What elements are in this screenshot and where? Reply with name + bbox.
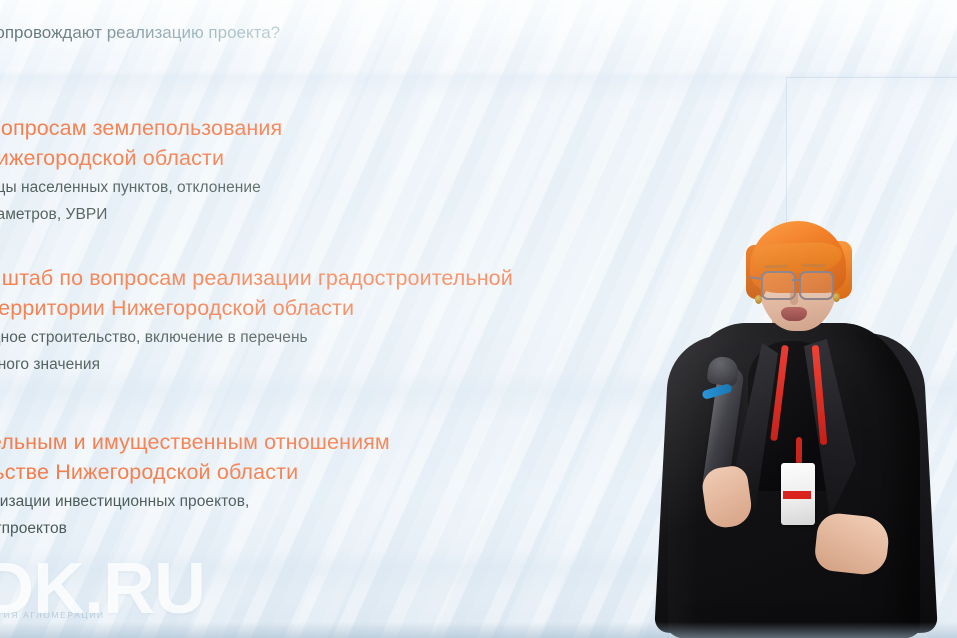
block-body-line1: табное жилищное строительство, включение… bbox=[0, 326, 513, 349]
block-body-line1: ование, границы населенных пунктов, откл… bbox=[0, 176, 282, 199]
block-heading-line1: ональный штаб по вопросам реализации гра… bbox=[0, 264, 513, 294]
block-heading-line1: иссия по вопросам землепользования bbox=[0, 114, 282, 144]
slide-content-block: ет по земельным и имущественным отношени… bbox=[0, 428, 390, 540]
bottom-edge-shadow bbox=[0, 622, 957, 638]
block-body-line2: едельных параметров, УВРИ bbox=[0, 203, 282, 226]
block-body-line2: табных инвестпроектов bbox=[0, 517, 390, 540]
block-heading-line1: ет по земельным и имущественным отношени… bbox=[0, 428, 390, 458]
slide-subtitle: е органы сопровождают реализацию проекта… bbox=[0, 23, 280, 43]
slide-page-number: 2 bbox=[924, 600, 933, 620]
presentation-photo-scene: ица: е органы сопровождают реализацию пр… bbox=[0, 0, 957, 638]
block-body-line1: адки для реализации инвестиционных проек… bbox=[0, 490, 390, 513]
slide-content-block: иссия по вопросам землепользования строй… bbox=[0, 114, 282, 226]
block-body-line2: ков недр местного значения bbox=[0, 353, 513, 376]
slide-content-block: ональный штаб по вопросам реализации гра… bbox=[0, 264, 513, 376]
dk-ru-watermark: DK.RU bbox=[0, 548, 205, 630]
block-heading-line2: итики на территории Нижегородской област… bbox=[0, 294, 513, 324]
block-heading-line2: стройки Нижегородской области bbox=[0, 144, 282, 174]
block-heading-line2: Правительстве Нижегородской области bbox=[0, 458, 390, 488]
